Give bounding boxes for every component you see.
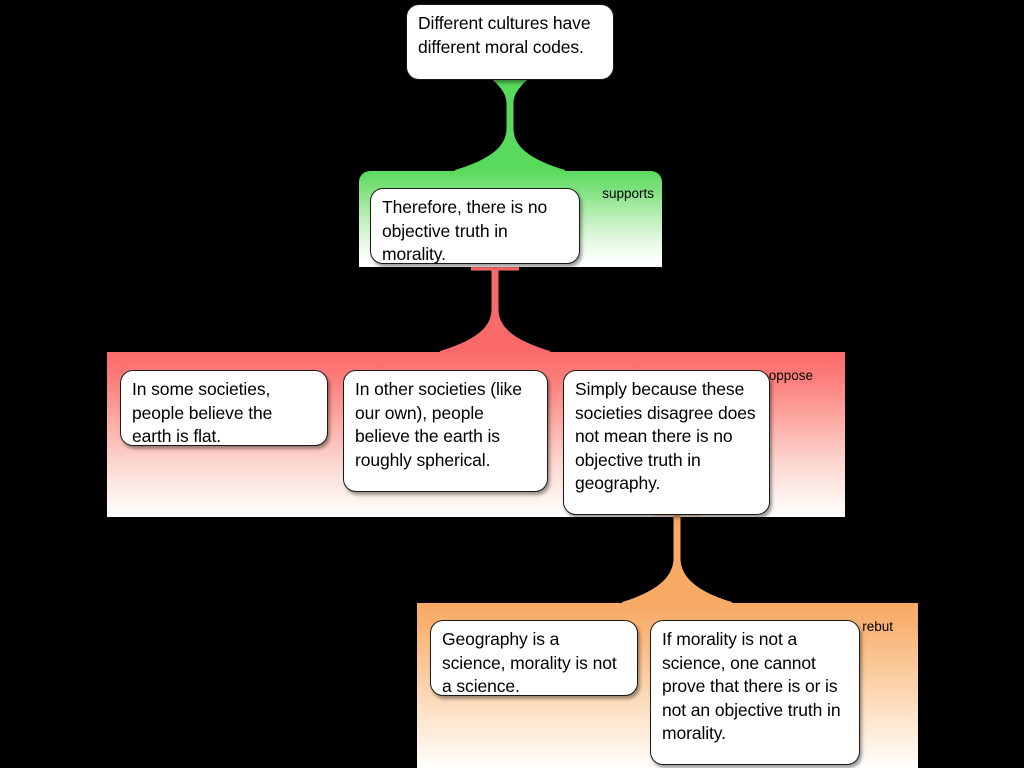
- claim-card-root[interactable]: Different cultures have different moral …: [406, 4, 614, 80]
- relation-label-supports: supports: [602, 186, 654, 201]
- connector-oppose-icon: [440, 267, 550, 353]
- relation-label-rebut: rebut: [862, 619, 893, 634]
- claim-card-conclusion[interactable]: Therefore, there is no objective truth i…: [370, 188, 580, 264]
- claim-card-oppose-premise-1[interactable]: In some societies, people believe the ea…: [120, 370, 328, 446]
- connector-supports-icon: [455, 80, 565, 172]
- claim-card-oppose-premise-3[interactable]: Simply because these societies disagree …: [563, 370, 770, 515]
- relation-label-oppose: oppose: [769, 368, 813, 383]
- claim-card-rebut-premise-2[interactable]: If morality is not a science, one cannot…: [650, 620, 860, 765]
- claim-card-oppose-premise-2[interactable]: In other societies (like our own), peopl…: [343, 370, 548, 492]
- argument-map-canvas: supports oppose rebut Different cultures…: [0, 0, 1024, 768]
- connector-rebut-icon: [622, 512, 732, 604]
- claim-card-rebut-premise-1[interactable]: Geography is a science, morality is not …: [430, 620, 638, 696]
